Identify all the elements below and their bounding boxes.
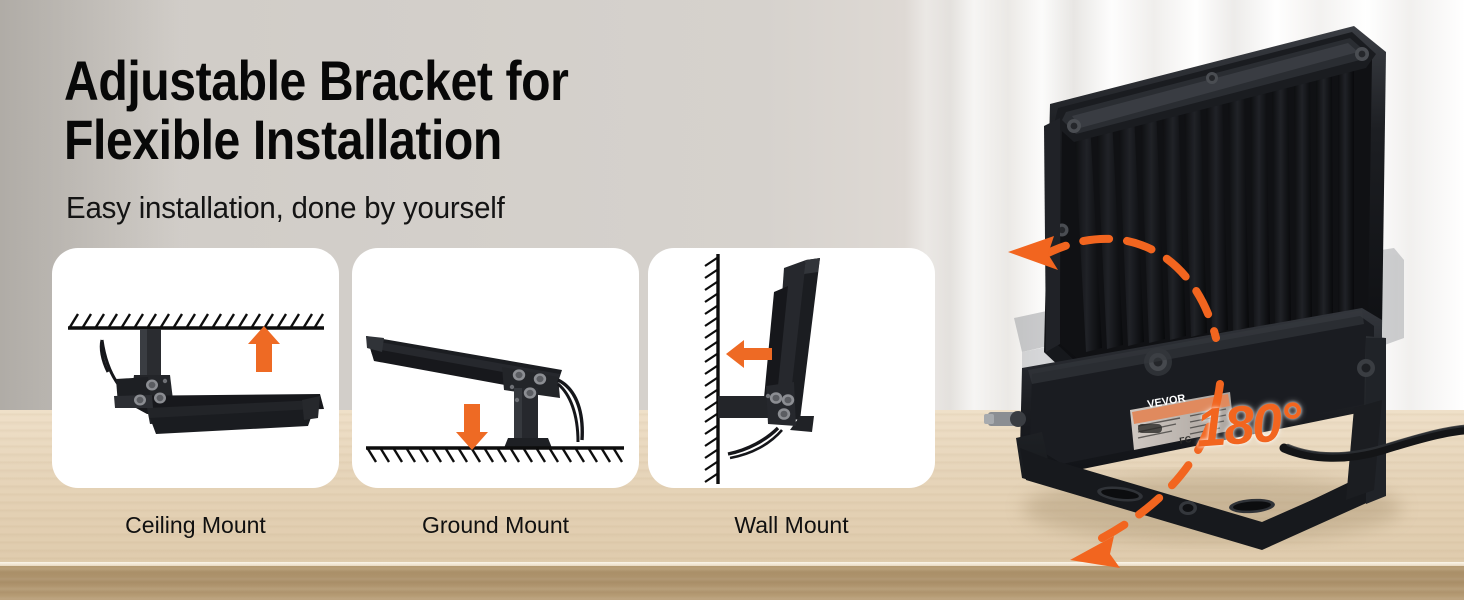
rotation-degree-badge: 180° xyxy=(1194,390,1302,459)
page-title: Adjustable Bracket for Flexible Installa… xyxy=(64,52,666,170)
hatched-wall-line xyxy=(705,254,718,484)
left-arrow-icon xyxy=(726,340,772,368)
mount-card-label-ground: Ground Mount xyxy=(352,512,639,539)
mount-card-ceiling[interactable] xyxy=(52,248,339,488)
product-feature-banner: Adjustable Bracket for Flexible Installa… xyxy=(0,0,1464,600)
mount-card-wall[interactable] xyxy=(648,248,935,488)
wall-mount-illustration xyxy=(648,248,935,488)
ground-mount-illustration xyxy=(352,248,639,488)
pivot-bolt-right xyxy=(1357,359,1375,377)
page-subtitle: Easy installation, done by yourself xyxy=(66,190,505,226)
down-arrow-icon xyxy=(456,404,488,450)
fcc-mark: FC xyxy=(1179,434,1193,446)
mount-card-label-wall: Wall Mount xyxy=(648,512,935,539)
pivot-bolt xyxy=(984,411,1026,427)
mount-card-ground[interactable] xyxy=(352,248,639,488)
hatched-ceiling-line xyxy=(68,314,324,328)
ceiling-mount-illustration xyxy=(52,248,339,488)
up-arrow-icon xyxy=(248,326,280,372)
floodlight-ceiling xyxy=(101,329,324,434)
mount-card-label-ceiling: Ceiling Mount xyxy=(52,512,339,539)
hatched-ground-line xyxy=(366,448,624,462)
product-floodlight-photo: VEVOR FC xyxy=(962,8,1464,600)
